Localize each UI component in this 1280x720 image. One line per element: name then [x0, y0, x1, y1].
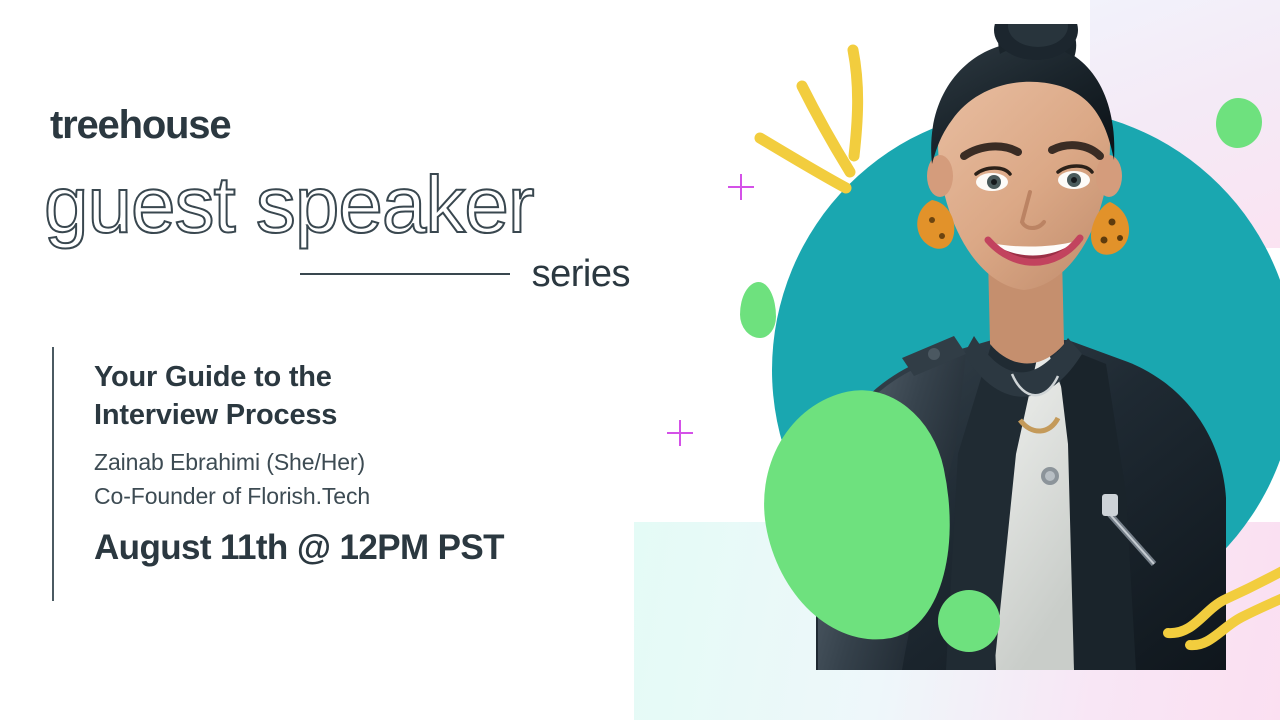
yellow-sparkle-lines-icon [750, 38, 890, 198]
page-title: guest speaker [44, 165, 534, 245]
yellow-wave-lines-icon [1160, 565, 1280, 670]
text-column: treehouse guest speaker series Your Guid… [0, 0, 660, 720]
event-details-text: Your Guide to the Interview Process Zain… [54, 347, 504, 601]
event-date-time: August 11th @ 12PM PST [94, 529, 504, 568]
series-divider-rule [300, 273, 510, 275]
series-row: series [300, 255, 630, 293]
magenta-plus-icon-lower [667, 420, 693, 446]
event-details-block: Your Guide to the Interview Process Zain… [52, 347, 504, 601]
green-blob-small-upper [740, 282, 776, 338]
speaker-role: Co-Founder of Florish.Tech [94, 480, 504, 513]
green-blob-small-lower [938, 590, 1000, 652]
series-label: series [532, 255, 630, 293]
promo-slide: treehouse guest speaker series Your Guid… [0, 0, 1280, 720]
treehouse-wordmark: treehouse [50, 105, 230, 145]
talk-title: Your Guide to the Interview Process [94, 359, 504, 434]
speaker-name: Zainab Ebrahimi (She/Her) [94, 446, 504, 479]
